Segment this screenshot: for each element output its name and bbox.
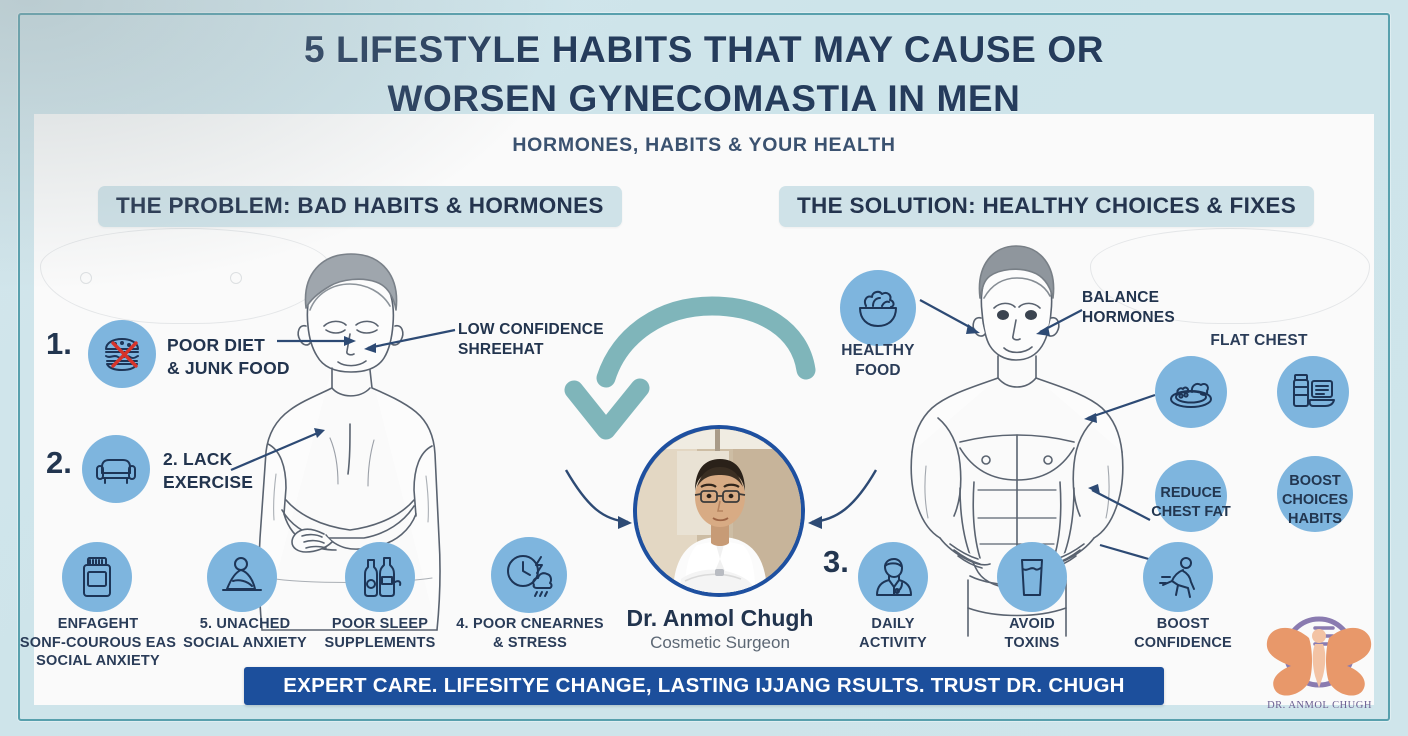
water-glass-icon [997, 542, 1067, 612]
title-block: 5 LIFESTYLE HABITS THAT MAY CAUSE OR WOR… [0, 26, 1408, 157]
doctor-role: Cosmetic Surgeon [565, 633, 875, 653]
person-tired-icon [207, 542, 277, 612]
supplement-bottle-icon [62, 542, 132, 612]
supplements-book-icon [1277, 356, 1349, 428]
doctor-icon [858, 542, 928, 612]
poor-diet-label: POOR DIET & JUNK FOOD [167, 334, 290, 380]
social-anxiety-caption: 5. UNACHED SOCIAL ANXIETY [170, 615, 320, 652]
logo-brand-text: DR. ANMOL CHUGH [1247, 700, 1392, 711]
clock-storm-icon [491, 537, 567, 613]
salad-bowl-icon [840, 270, 916, 346]
title-line-2: WORSEN GYNECOMASTIA IN MEN [0, 75, 1408, 124]
boost-confidence-caption: BOOST CONFIDENCE [1113, 615, 1253, 652]
healthy-plate-icon [1155, 356, 1227, 428]
alcohol-bottles-icon [345, 542, 415, 612]
running-person-icon [1143, 542, 1213, 612]
burger-crossed-icon [88, 320, 156, 388]
reduce-chest-fat-label: REDUCE CHEST FAT [1148, 484, 1234, 522]
doctor-portrait [633, 425, 805, 597]
boost-choices-habits-label: BOOST CHOICES HABITS [1272, 472, 1358, 529]
subtitle: HORMONES, HABITS & YOUR HEALTH [0, 134, 1408, 157]
number-marker-1: 1. [46, 326, 72, 362]
bottom-banner: EXPERT CARE. LIFESITYE CHANGE, LASTING I… [244, 667, 1164, 705]
number-marker-2: 2. [46, 445, 72, 481]
avoid-toxins-caption: AVOID TOXINS [969, 615, 1095, 652]
balance-hormones-callout: BALANCE HORMONES [1082, 288, 1175, 328]
poor-sleep-caption: POOR SLEEP SUPPLEMENTS [305, 615, 455, 652]
number-marker-3: 3. [823, 544, 849, 580]
flat-chest-callout: FLAT CHEST [1185, 331, 1333, 351]
butterfly-faces-logo-icon [1247, 610, 1392, 714]
section-header-solution: THE SOLUTION: HEALTHY CHOICES & FIXES [779, 186, 1314, 227]
doctor-name: Dr. Anmol Chugh [565, 605, 875, 632]
low-confidence-callout: LOW CONFIDENCE SHREEHAT [458, 320, 604, 360]
section-header-problem: THE PROBLEM: BAD HABITS & HORMONES [98, 186, 622, 227]
infographic-poster: 5 LIFESTYLE HABITS THAT MAY CAUSE OR WOR… [0, 0, 1408, 736]
bottom-banner-text: EXPERT CARE. LIFESITYE CHANGE, LASTING I… [283, 674, 1124, 698]
sofa-icon [82, 435, 150, 503]
lack-exercise-label: 2. LACK EXERCISE [163, 448, 253, 494]
title-line-1: 5 LIFESTYLE HABITS THAT MAY CAUSE OR [0, 26, 1408, 75]
healthy-food-caption: HEALTHY FOOD [815, 341, 941, 381]
supplement-caption: ENFAGEHT SONF-COUROUS EAS SOCIAL ANXIETY [10, 615, 186, 671]
